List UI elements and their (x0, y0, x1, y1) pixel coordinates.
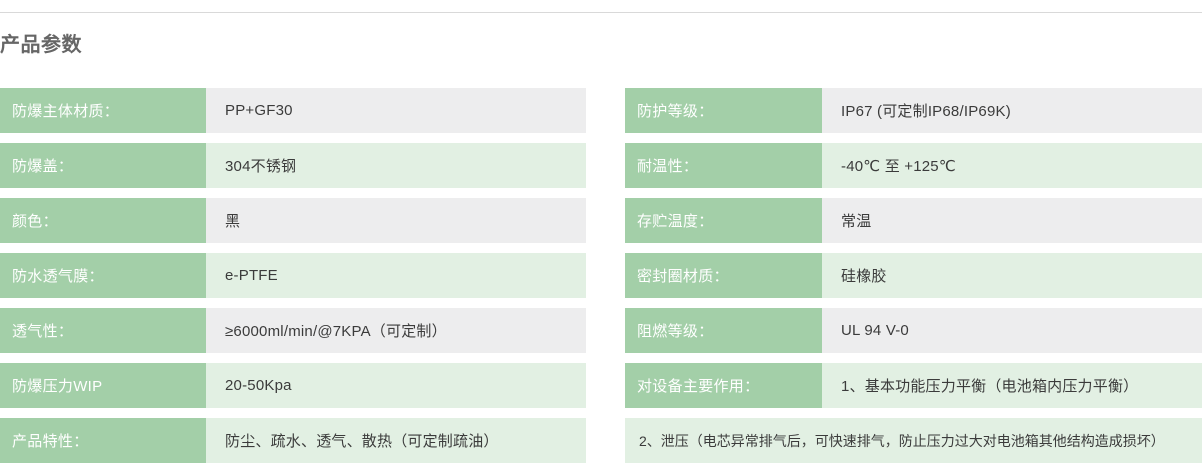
spec-label: 防护等级： (625, 88, 822, 133)
spec-value: -40℃ 至 +125℃ (822, 143, 1202, 188)
spec-value: e-PTFE (206, 253, 586, 298)
spec-value: IP67 (可定制IP68/IP69K) (822, 88, 1202, 133)
spec-label: 产品特性： (0, 418, 206, 463)
table-row: 防爆压力WIP 20-50Kpa (0, 363, 586, 408)
spec-value: ≥6000ml/min/@7KPA（可定制） (206, 308, 586, 353)
table-row: 防爆主体材质： PP+GF30 (0, 88, 586, 133)
table-row-continuation: 2、泄压（电芯异常排气后，可快速排气，防止压力过大对电池箱其他结构造成损坏） (625, 418, 1202, 463)
spec-value: 304不锈钢 (206, 143, 586, 188)
table-row: 透气性： ≥6000ml/min/@7KPA（可定制） (0, 308, 586, 353)
spec-label: 对设备主要作用： (625, 363, 822, 408)
spec-value-continuation: 2、泄压（电芯异常排气后，可快速排气，防止压力过大对电池箱其他结构造成损坏） (625, 418, 1202, 463)
spec-label: 密封圈材质： (625, 253, 822, 298)
spec-table-left-column: 防爆主体材质： PP+GF30 防爆盖： 304不锈钢 颜色： 黑 防水透气膜：… (0, 88, 586, 463)
spec-label: 防水透气膜： (0, 253, 206, 298)
spec-value: 防尘、疏水、透气、散热（可定制疏油） (206, 418, 586, 463)
table-row: 耐温性： -40℃ 至 +125℃ (625, 143, 1202, 188)
spec-value: 黑 (206, 198, 586, 243)
spec-label: 颜色： (0, 198, 206, 243)
spec-value: 1、基本功能压力平衡（电池箱内压力平衡） (822, 363, 1202, 408)
table-row: 颜色： 黑 (0, 198, 586, 243)
spec-value: 20-50Kpa (206, 363, 586, 408)
table-row: 阻燃等级： UL 94 V-0 (625, 308, 1202, 353)
spec-value: 硅橡胶 (822, 253, 1202, 298)
spec-label: 透气性： (0, 308, 206, 353)
table-row: 防爆盖： 304不锈钢 (0, 143, 586, 188)
spec-label: 存贮温度： (625, 198, 822, 243)
spec-table-right-column: 防护等级： IP67 (可定制IP68/IP69K) 耐温性： -40℃ 至 +… (625, 88, 1202, 463)
spec-value: 常温 (822, 198, 1202, 243)
product-spec-page: 产品参数 防爆主体材质： PP+GF30 防爆盖： 304不锈钢 颜色： 黑 防… (0, 0, 1202, 450)
spec-label: 阻燃等级： (625, 308, 822, 353)
table-row: 防护等级： IP67 (可定制IP68/IP69K) (625, 88, 1202, 133)
page-title: 产品参数 (0, 32, 82, 58)
table-row: 存贮温度： 常温 (625, 198, 1202, 243)
spec-value: UL 94 V-0 (822, 308, 1202, 353)
table-row: 对设备主要作用： 1、基本功能压力平衡（电池箱内压力平衡） (625, 363, 1202, 408)
table-row: 产品特性： 防尘、疏水、透气、散热（可定制疏油） (0, 418, 586, 463)
top-divider (0, 12, 1202, 13)
spec-value: PP+GF30 (206, 88, 586, 133)
table-row: 密封圈材质： 硅橡胶 (625, 253, 1202, 298)
table-row: 防水透气膜： e-PTFE (0, 253, 586, 298)
spec-label: 耐温性： (625, 143, 822, 188)
spec-label: 防爆盖： (0, 143, 206, 188)
spec-label: 防爆主体材质： (0, 88, 206, 133)
spec-label: 防爆压力WIP (0, 363, 206, 408)
